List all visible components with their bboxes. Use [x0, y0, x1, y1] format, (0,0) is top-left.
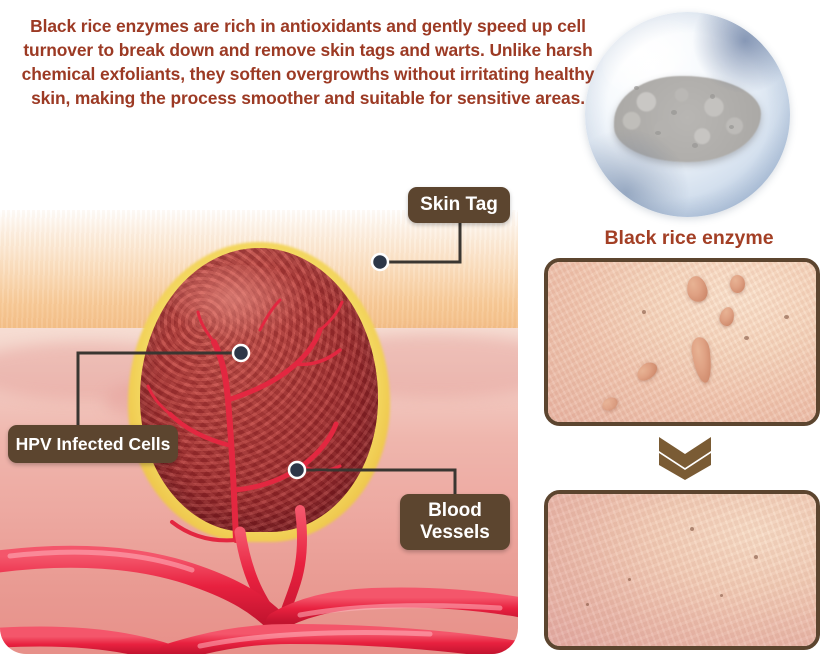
- callout-blood-label-line2: Vessels: [420, 522, 490, 544]
- callout-skin-tag[interactable]: Skin Tag: [408, 187, 510, 223]
- powder-speck: [634, 86, 639, 90]
- black-rice-enzyme-caption: Black rice enzyme: [560, 227, 818, 250]
- skin-mark: [642, 310, 646, 314]
- skin-mark: [744, 336, 749, 340]
- promo-page: Black rice enzymes are rich in antioxida…: [0, 0, 823, 654]
- powder-speck: [655, 131, 661, 135]
- skin-mark: [720, 594, 723, 597]
- callout-blood-label-line1: Blood: [420, 500, 490, 522]
- powder-speck: [671, 110, 677, 115]
- powder-speck: [692, 143, 698, 148]
- powder-speck: [710, 94, 715, 99]
- before-skin-surface: [548, 262, 816, 422]
- powder-speck: [729, 125, 734, 129]
- callout-skin-tag-label: Skin Tag: [420, 194, 498, 216]
- after-photo: [544, 490, 820, 650]
- black-rice-enzyme-sphere: [585, 12, 790, 217]
- skin-tag-lesion: [730, 275, 745, 293]
- callout-hpv-label: HPV Infected Cells: [16, 434, 171, 454]
- enzyme-powder: [614, 76, 762, 162]
- double-chevron-down-icon: [655, 435, 715, 481]
- glass-sphere-icon: [585, 12, 790, 217]
- skin-mark: [784, 315, 789, 319]
- after-skin-surface: [548, 494, 816, 646]
- callout-blood-vessels[interactable]: Blood Vessels: [400, 494, 510, 550]
- before-photo: [544, 258, 820, 426]
- header-paragraph: Black rice enzymes are rich in antioxida…: [8, 14, 608, 110]
- callout-hpv-infected-cells[interactable]: HPV Infected Cells: [8, 425, 178, 463]
